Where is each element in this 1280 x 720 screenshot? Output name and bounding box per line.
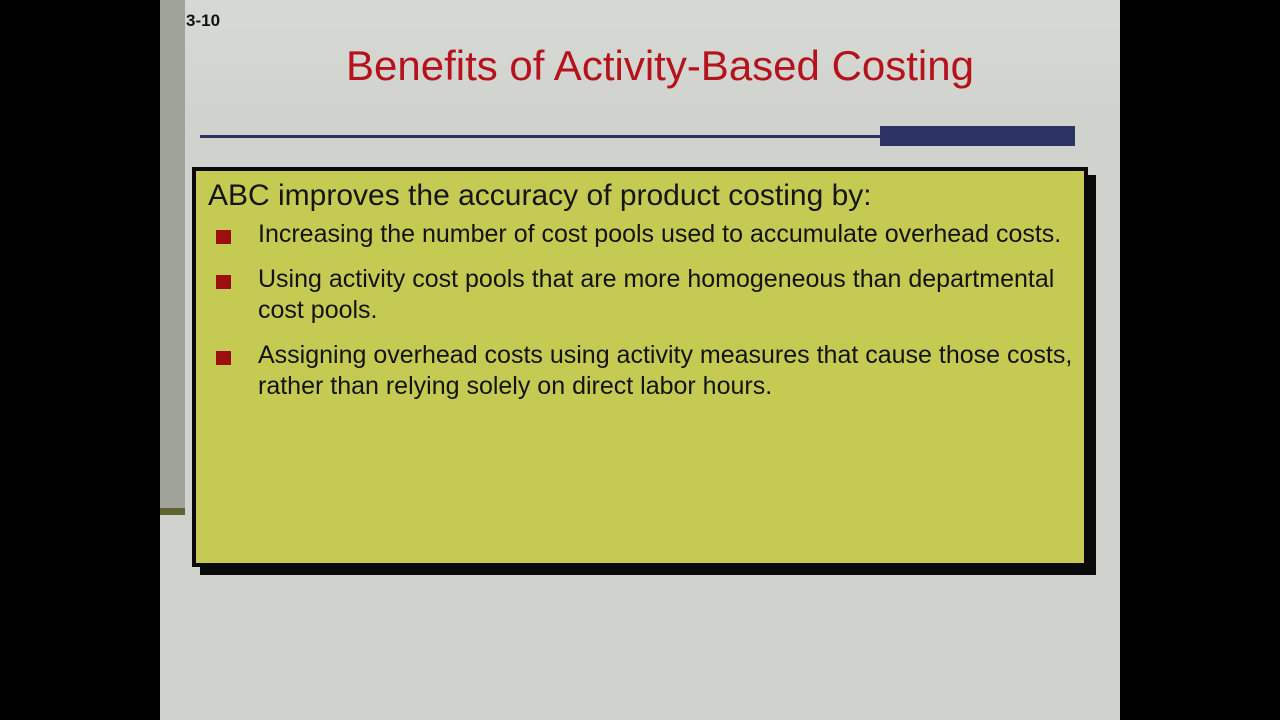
square-bullet-icon (216, 351, 231, 365)
bullet-list: Increasing the number of cost pools used… (206, 219, 1074, 402)
title-divider-accent-block (880, 126, 1075, 146)
page-title: Benefits of Activity-Based Costing (200, 44, 1120, 88)
content-heading: ABC improves the accuracy of product cos… (208, 179, 1074, 213)
square-bullet-icon (216, 230, 231, 244)
content-box: ABC improves the accuracy of product cos… (192, 167, 1088, 567)
slide-frame: 3-10 Benefits of Activity-Based Costing … (0, 0, 1280, 720)
list-item-text: Increasing the number of cost pools used… (258, 220, 1061, 248)
list-item: Assigning overhead costs using activity … (206, 340, 1074, 402)
list-item: Using activity cost pools that are more … (206, 264, 1074, 326)
list-item: Increasing the number of cost pools used… (206, 219, 1074, 250)
slide-number: 3-10 (186, 11, 220, 31)
list-item-text: Assigning overhead costs using activity … (258, 341, 1072, 400)
left-accent-band (160, 0, 185, 508)
slide-canvas: 3-10 Benefits of Activity-Based Costing … (160, 0, 1120, 720)
list-item-text: Using activity cost pools that are more … (258, 265, 1054, 324)
left-accent-band-footer (160, 508, 185, 515)
square-bullet-icon (216, 275, 231, 289)
